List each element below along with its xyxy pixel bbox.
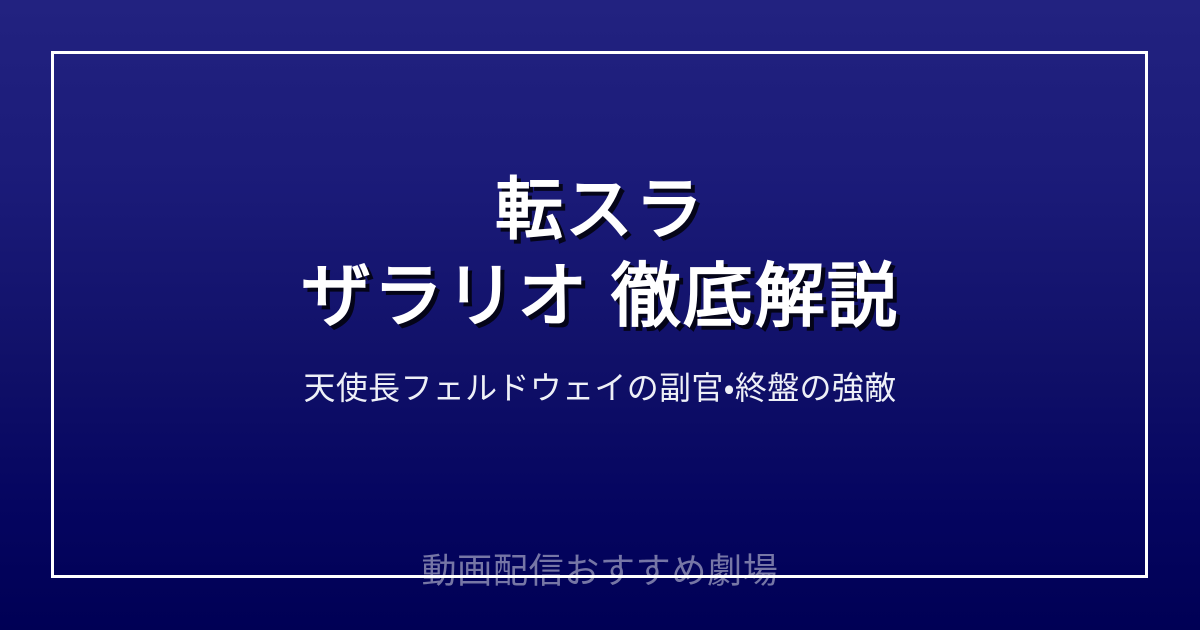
- thumbnail-card: 動画配信おすすめ劇場 転スラ ザラリオ 徹底解説 天使長フェルドウェイの副官・終…: [0, 0, 1200, 630]
- title-line-2: ザラリオ 徹底解説: [301, 252, 899, 340]
- title-line-1: 転スラ: [495, 172, 705, 248]
- page-title: 転スラ ザラリオ 徹底解説: [301, 168, 899, 340]
- page-subtitle: 天使長フェルドウェイの副官・終盤の強敵: [304, 340, 897, 410]
- text-content-block: 転スラ ザラリオ 徹底解説 天使長フェルドウェイの副官・終盤の強敵: [52, 52, 1148, 578]
